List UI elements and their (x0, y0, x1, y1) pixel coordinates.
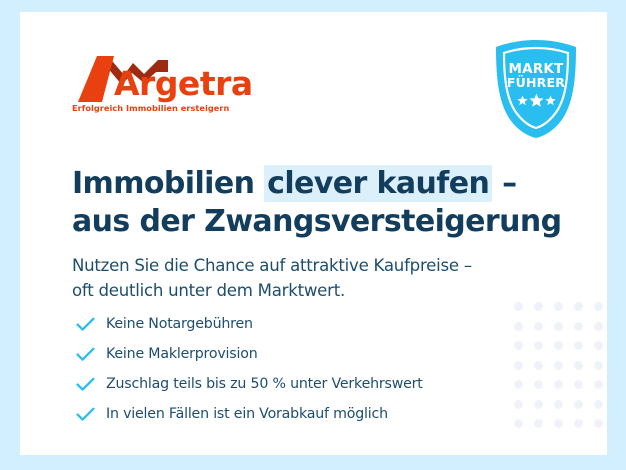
logo-tagline: Erfolgreich Immobilien ersteigern (72, 103, 229, 113)
headline-line-1: Immobilien clever kaufen – (72, 165, 572, 203)
dot (594, 380, 603, 389)
dot (574, 341, 583, 350)
list-item: Keine Notargebühren (76, 309, 536, 339)
dot (554, 380, 563, 389)
headline-line-2: aus der Zwangsversteigerung (72, 203, 572, 241)
banner-card: Argetra Erfolgreich Immobilien ersteiger… (20, 12, 607, 455)
list-item: Keine Maklerprovision (76, 339, 536, 369)
dot (574, 380, 583, 389)
dot (594, 322, 603, 331)
dot (574, 400, 583, 409)
shield-badge-icon (493, 39, 579, 139)
dot (594, 400, 603, 409)
market-leader-badge: MARKT FÜHRER (493, 39, 579, 139)
benefit-label: Keine Notargebühren (106, 316, 253, 332)
headline-highlight: clever kaufen (264, 165, 492, 202)
dot (594, 341, 603, 350)
benefit-label: Keine Maklerprovision (106, 346, 258, 362)
list-item: Zuschlag teils bis zu 50 % unter Verkehr… (76, 369, 536, 399)
dot (554, 400, 563, 409)
check-icon (76, 407, 106, 422)
dot (574, 302, 583, 311)
benefits-list: Keine Notargebühren Keine Maklerprovisio… (76, 309, 536, 429)
subheadline-line-1: Nutzen Sie die Chance auf attraktive Kau… (72, 253, 582, 278)
headline: Immobilien clever kaufen – aus der Zwang… (72, 165, 572, 242)
dot (554, 302, 563, 311)
dot (554, 322, 563, 331)
logo-wordmark: Argetra (114, 67, 253, 100)
dot (574, 322, 583, 331)
dot (574, 419, 583, 428)
check-icon (76, 317, 106, 332)
subheadline: Nutzen Sie die Chance auf attraktive Kau… (72, 253, 582, 303)
dot (554, 341, 563, 350)
check-icon (76, 377, 106, 392)
benefit-label: In vielen Fällen ist ein Vorabkauf mögli… (106, 406, 388, 422)
list-item: In vielen Fällen ist ein Vorabkauf mögli… (76, 399, 536, 429)
benefit-label: Zuschlag teils bis zu 50 % unter Verkehr… (106, 376, 423, 392)
dot (594, 361, 603, 370)
dot (554, 361, 563, 370)
subheadline-line-2: oft deutlich unter dem Marktwert. (72, 278, 582, 303)
check-icon (76, 347, 106, 362)
dot (554, 419, 563, 428)
argetra-logo[interactable]: Argetra Erfolgreich Immobilien ersteiger… (72, 50, 282, 122)
dot (594, 302, 603, 311)
promo-banner: Argetra Erfolgreich Immobilien ersteiger… (0, 0, 626, 470)
headline-text-after: – (492, 166, 516, 201)
headline-text-before: Immobilien (72, 166, 264, 201)
dot (594, 419, 603, 428)
dot (574, 361, 583, 370)
